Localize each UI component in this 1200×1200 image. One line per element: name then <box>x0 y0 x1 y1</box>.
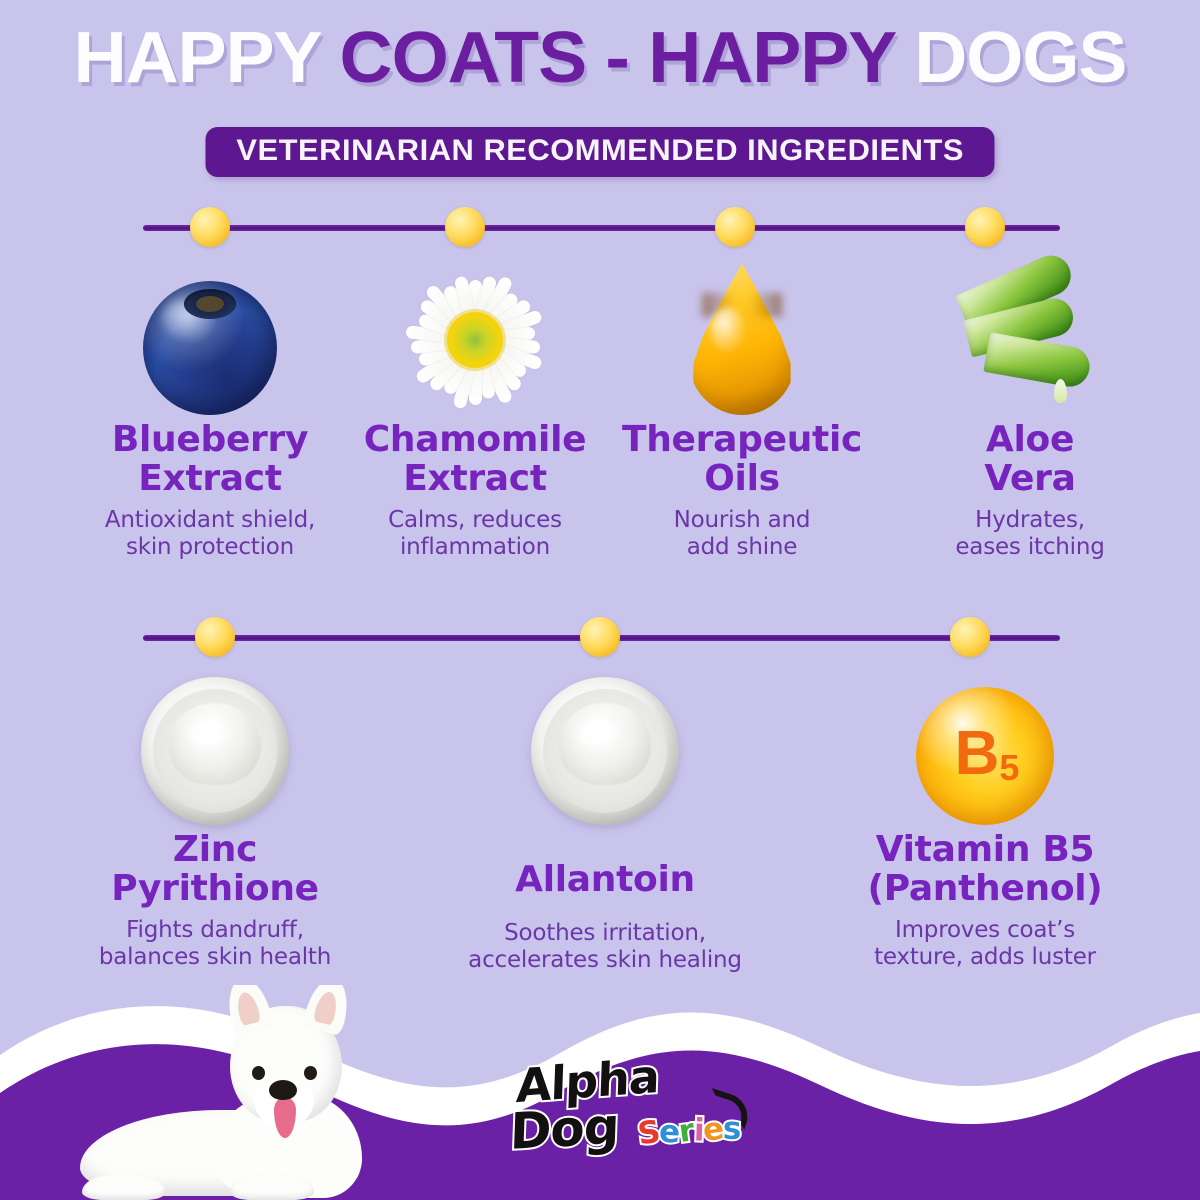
powder-bowl-icon <box>65 660 365 825</box>
ingredient-name: Allantoin <box>450 861 760 900</box>
ingredient-desc: Soothes irritation, accelerates skin hea… <box>450 920 760 974</box>
ingredient-desc: Calms, reduces inflammation <box>320 507 630 561</box>
divider-dot <box>950 617 990 657</box>
divider-dot <box>580 617 620 657</box>
oil-drop-icon <box>592 250 892 415</box>
blueberry-icon <box>55 250 365 415</box>
ingredient-card-blueberry[interactable]: Blueberry Extract Antioxidant shield, sk… <box>55 250 365 561</box>
divider-dot <box>965 207 1005 247</box>
logo-series-letter: s <box>723 1113 742 1145</box>
ingredient-row-1: Blueberry Extract Antioxidant shield, sk… <box>0 250 1200 590</box>
ingredient-name: Vitamin B5 (Panthenol) <box>830 831 1140 908</box>
ingredient-desc: Improves coat’s texture, adds luster <box>830 917 1140 971</box>
ingredient-desc: Fights dandruff, balances skin health <box>65 917 365 971</box>
divider-dot <box>445 207 485 247</box>
title-part-coats-happy: COATS - HAPPY <box>340 18 915 98</box>
ingredient-row-2: Zinc Pyrithione Fights dandruff, balance… <box>0 660 1200 1000</box>
title-part-dogs: DOGS <box>914 18 1126 98</box>
logo-dog-text: Dog <box>509 1101 619 1157</box>
ingredient-card-allantoin[interactable]: Allantoin Soothes irritation, accelerate… <box>450 660 760 974</box>
ingredient-card-therapeutic-oils[interactable]: Therapeutic Oils Nourish and add shine <box>592 250 892 561</box>
ingredient-name: Chamomile Extract <box>320 421 630 498</box>
page-title: HAPPY COATS - HAPPY DOGS <box>0 22 1200 94</box>
subtitle-badge-wrap: VETERINARIAN RECOMMENDED INGREDIENTS <box>0 127 1200 177</box>
divider-dot <box>190 207 230 247</box>
ingredient-name: Zinc Pyrithione <box>65 831 365 908</box>
ingredient-card-vitamin-b5[interactable]: B5 Vitamin B5 (Panthenol) Improves coat’… <box>830 660 1140 971</box>
ingredient-name: Therapeutic Oils <box>592 421 892 498</box>
ingredient-desc: Antioxidant shield, skin protection <box>55 507 365 561</box>
divider-dot <box>715 207 755 247</box>
ingredient-name: Blueberry Extract <box>55 421 365 498</box>
ingredient-name: Aloe Vera <box>880 421 1180 498</box>
dog-photo <box>72 1000 402 1200</box>
ingredient-card-zinc-pyrithione[interactable]: Zinc Pyrithione Fights dandruff, balance… <box>65 660 365 971</box>
divider-row-2 <box>143 617 1060 657</box>
title-part-happy: HAPPY <box>74 18 340 98</box>
divider-row-1 <box>143 207 1060 247</box>
vitamin-b5-sphere-icon: B5 <box>830 660 1140 825</box>
ingredient-card-chamomile[interactable]: Chamomile Extract Calms, reduces inflamm… <box>320 250 630 561</box>
chamomile-flower-icon <box>320 250 630 415</box>
infographic-poster: HAPPY COATS - HAPPY DOGS VETERINARIAN RE… <box>0 0 1200 1200</box>
ingredient-desc: Nourish and add shine <box>592 507 892 561</box>
b5-label: B5 <box>955 723 1016 785</box>
footer-band: Alpha Dog Series <box>0 985 1200 1200</box>
brand-logo[interactable]: Alpha Dog Series <box>510 1054 750 1164</box>
subtitle-badge: VETERINARIAN RECOMMENDED INGREDIENTS <box>205 127 994 177</box>
powder-bowl-icon <box>450 660 760 825</box>
aloe-vera-icon <box>880 250 1180 415</box>
divider-bar <box>143 225 1060 231</box>
logo-series-text: Series <box>637 1113 741 1149</box>
divider-dot <box>195 617 235 657</box>
ingredient-card-aloe-vera[interactable]: Aloe Vera Hydrates, eases itching <box>880 250 1180 561</box>
ingredient-desc: Hydrates, eases itching <box>880 507 1180 561</box>
